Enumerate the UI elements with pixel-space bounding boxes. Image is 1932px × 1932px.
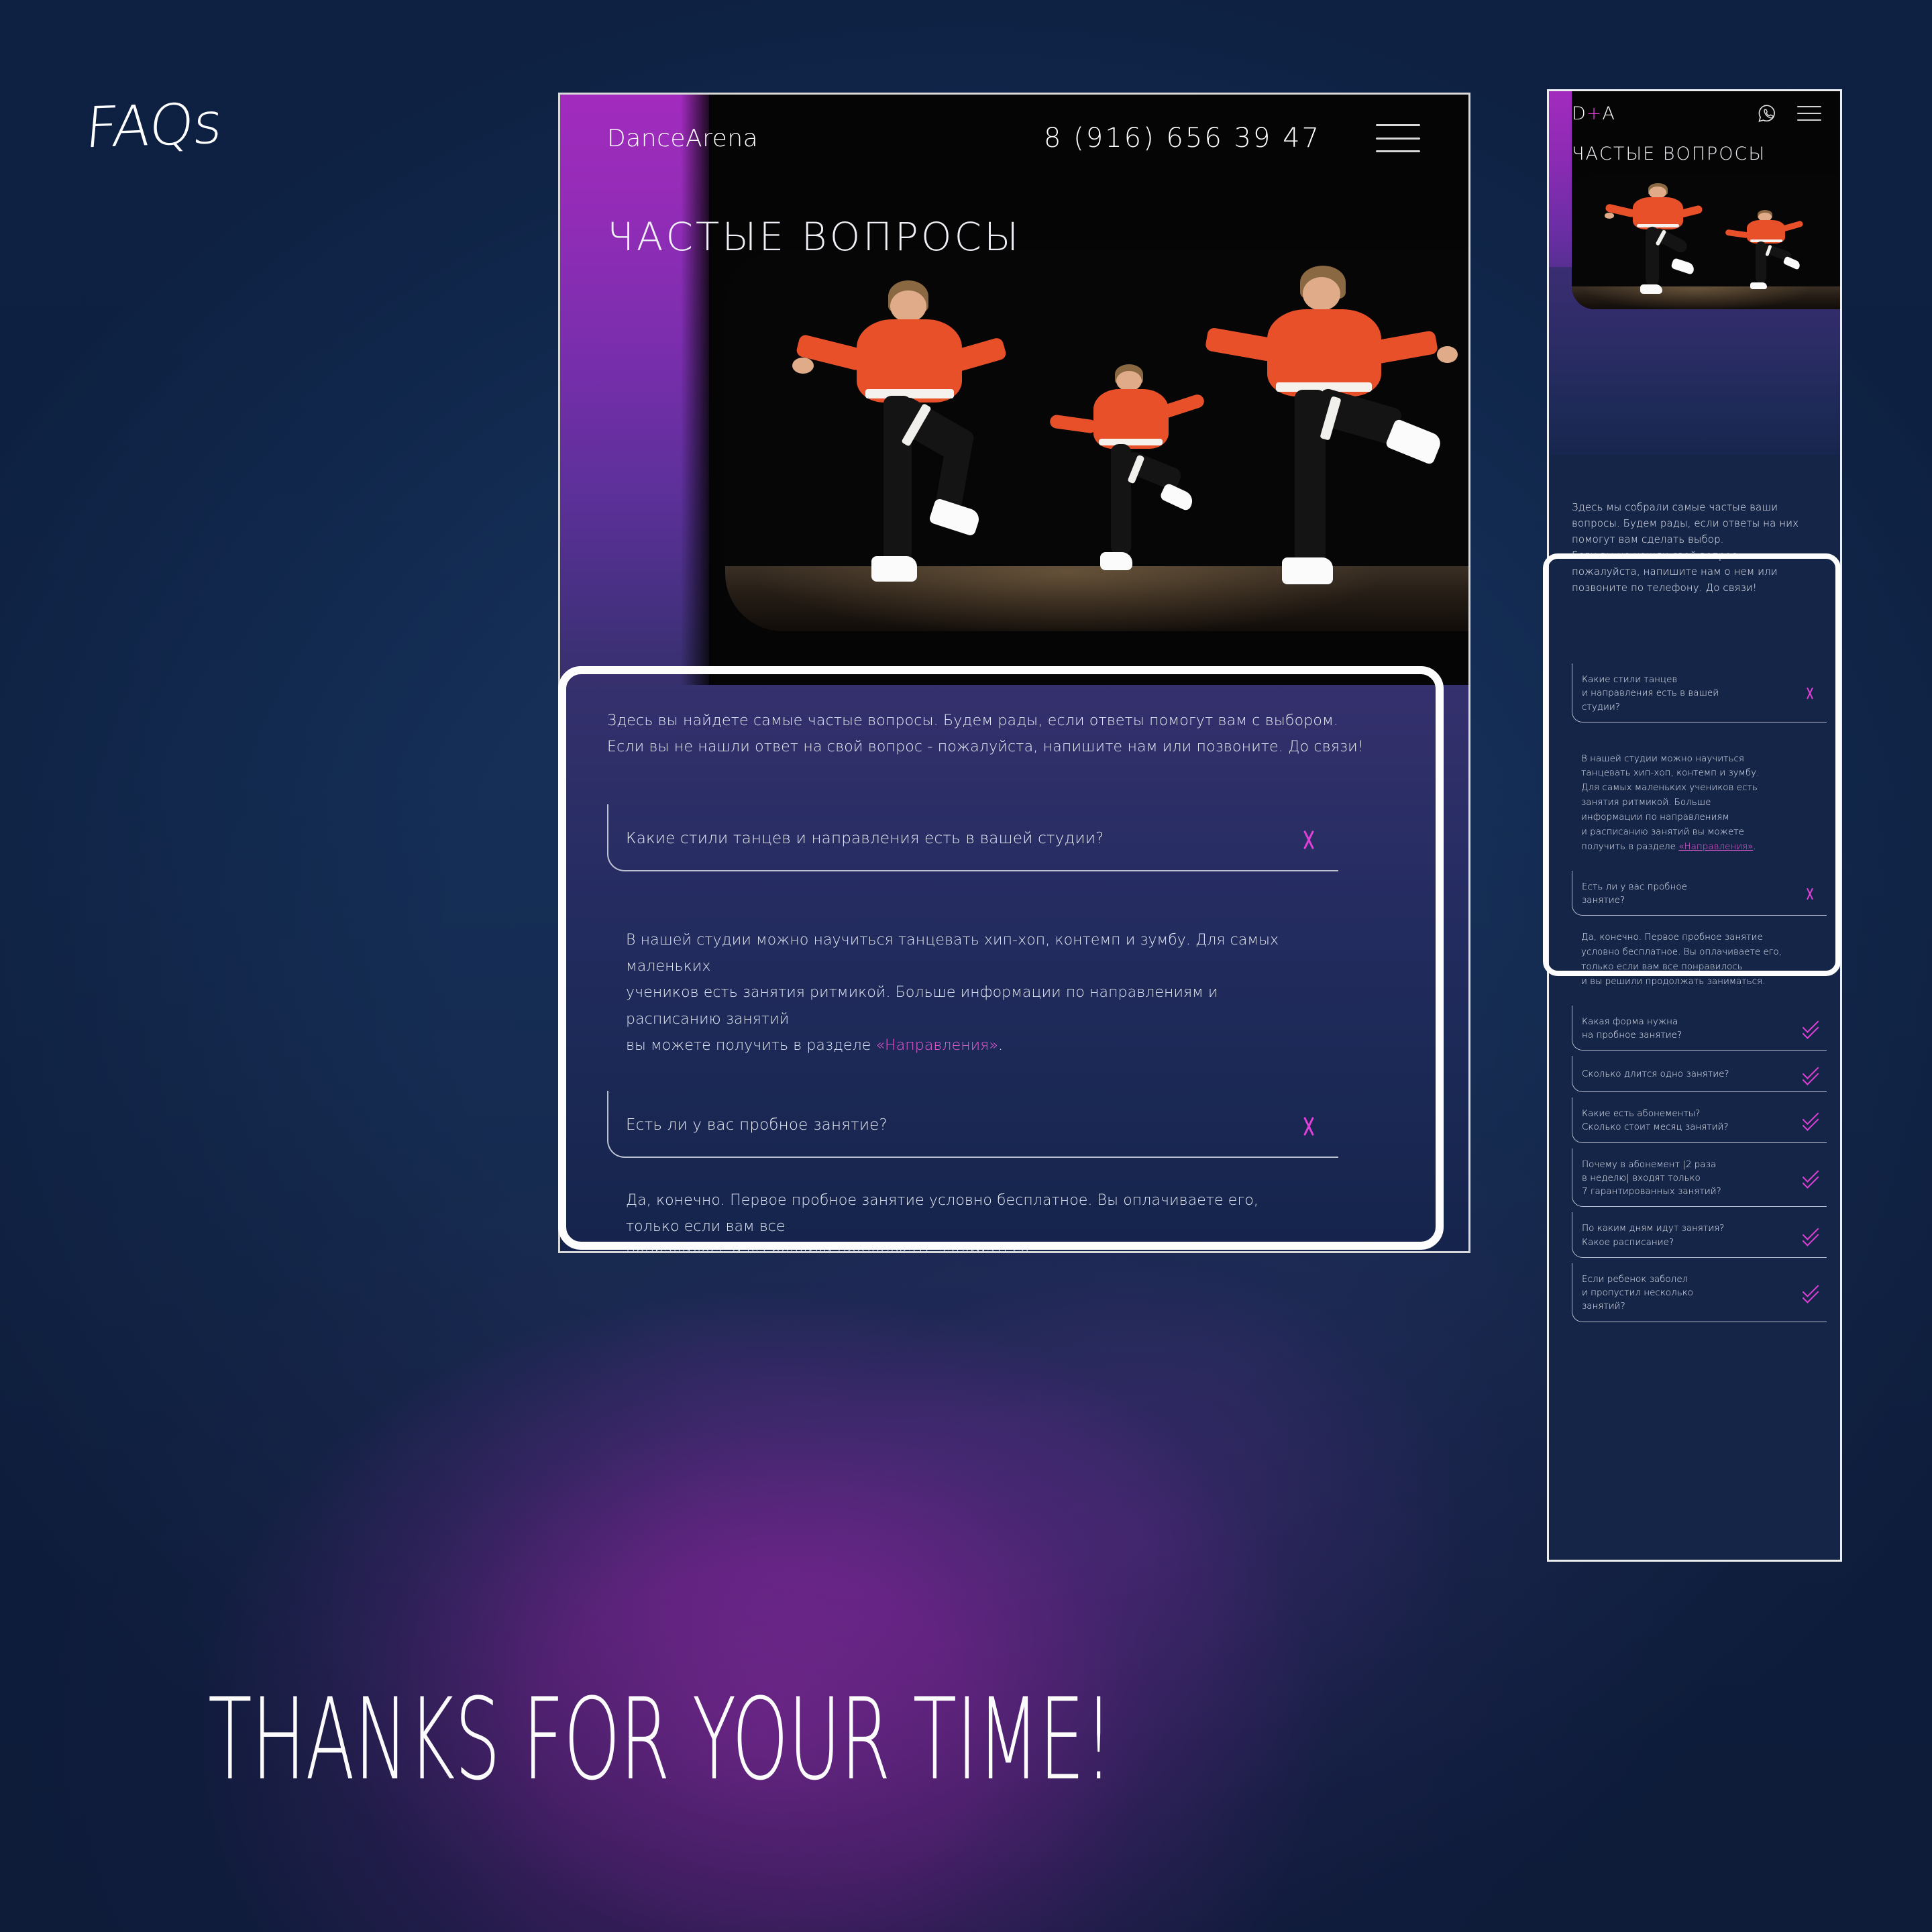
mobile-hero-dancers-photo [1572, 175, 1842, 309]
faq-question-text: Какие стили танцев и направления есть в … [626, 828, 1104, 850]
faq-answer-text: В нашей студии можно научиться танцевать… [1572, 722, 1827, 865]
chevron-double-down-icon[interactable] [1803, 1021, 1817, 1036]
close-x-icon[interactable] [1803, 686, 1817, 700]
dancer-figure [1046, 364, 1226, 585]
mobile-navbar: D+A [1549, 91, 1840, 136]
dancer-figure [1724, 210, 1811, 296]
faq-question-row[interactable]: Есть ли у вас пробное занятие? [607, 1091, 1338, 1158]
faq-question-text: Какие стили танцев и направления есть в … [1582, 673, 1719, 714]
dancer-figure [1605, 183, 1713, 301]
close-x-icon[interactable] [1803, 886, 1817, 901]
logo-plus: + [1587, 103, 1603, 124]
brand-logo[interactable]: D+A [1572, 103, 1615, 124]
faq-question-text: Какая форма нужна на пробное занятие? [1582, 1015, 1682, 1042]
faq-answer-pre: В нашей студии можно научиться танцевать… [1581, 753, 1759, 852]
phone-number[interactable]: 8 (916) 656 39 47 [1044, 123, 1321, 154]
chevron-double-down-icon[interactable] [1803, 1228, 1817, 1243]
intro-paragraph: Здесь вы найдете самые частые вопросы. Б… [607, 708, 1364, 760]
faq-question-row[interactable]: Сколько длится одно занятие? [1572, 1056, 1827, 1092]
faq-answer-post: . [998, 1037, 1003, 1054]
faq-question-text: Есть ли у вас пробное занятие? [626, 1114, 888, 1136]
faq-question-row[interactable]: Какая форма нужна на пробное занятие? [1572, 1006, 1827, 1051]
faq-accordion-desktop: Какие стили танцев и направления есть в … [607, 792, 1338, 1253]
logo-letter-d: D [1572, 103, 1587, 124]
slide-title: FAQs [83, 90, 225, 160]
chevron-double-down-icon[interactable] [1803, 1113, 1817, 1128]
faq-question-row[interactable]: Почему в абонемент |2 раза в неделю| вхо… [1572, 1148, 1827, 1207]
faq-question-text: Есть ли у вас пробное занятие? [1582, 880, 1687, 908]
hamburger-icon[interactable] [1797, 106, 1821, 121]
whatsapp-icon[interactable] [1757, 103, 1777, 123]
page-title: ЧАСТЫЕ ВОПРОСЫ [607, 214, 1021, 260]
faq-accordion-mobile: Какие стили танцев и направления есть в … [1572, 658, 1827, 1322]
faq-answer-post: . [1753, 841, 1756, 852]
faq-answer-link[interactable]: «Направления» [1678, 841, 1753, 852]
dancer-figure [792, 280, 1031, 600]
desktop-mockup: DanceArena 8 (916) 656 39 47 ЧАСТЫЕ ВОПР… [558, 93, 1470, 1253]
dancer-figure [1203, 266, 1458, 601]
faq-question-text: Почему в абонемент |2 раза в неделю| вхо… [1582, 1158, 1721, 1199]
faq-question-row[interactable]: Какие стили танцев и направления есть в … [1572, 663, 1827, 722]
hero-dancers-photo [725, 250, 1470, 631]
chevron-double-down-icon[interactable] [1803, 1171, 1817, 1185]
chevron-double-down-icon[interactable] [1803, 1285, 1817, 1300]
mobile-mockup: D+A ЧАСТЫЕ ВОПРОСЫ Здесь мы собрали самы… [1547, 89, 1842, 1562]
logo-letter-a: A [1602, 103, 1615, 124]
faq-answer-pre: В нашей студии можно научиться танцевать… [626, 932, 1279, 1054]
hamburger-icon[interactable] [1376, 124, 1420, 152]
faq-question-row[interactable]: Какие стили танцев и направления есть в … [607, 804, 1338, 871]
closing-message: THANKS FOR YOUR TIME! [208, 1674, 1113, 1805]
faq-question-row[interactable]: Какие есть абонементы? Сколько стоит мес… [1572, 1097, 1827, 1143]
faq-answer-text: В нашей студии можно научиться танцевать… [607, 871, 1338, 1079]
faq-question-text: По каким дням идут занятия? Какое распис… [1582, 1222, 1724, 1249]
close-x-icon[interactable] [1297, 827, 1321, 851]
faq-question-text: Если ребенок заболел и пропустил несколь… [1582, 1273, 1693, 1313]
faq-answer-text: Да, конечно. Первое пробное занятие усло… [1572, 916, 1827, 1000]
faq-question-text: Сколько длится одно занятие? [1582, 1067, 1729, 1081]
faq-answer-link[interactable]: «Направления» [876, 1037, 998, 1054]
close-x-icon[interactable] [1297, 1114, 1321, 1138]
faq-question-text: Какие есть абонементы? Сколько стоит мес… [1582, 1107, 1729, 1134]
faq-question-row[interactable]: По каким дням идут занятия? Какое распис… [1572, 1212, 1827, 1258]
faq-answer-text: Да, конечно. Первое пробное занятие усло… [607, 1158, 1338, 1253]
desktop-navbar: DanceArena 8 (916) 656 39 47 [560, 95, 1468, 182]
mobile-page-title: ЧАСТЫЕ ВОПРОСЫ [1572, 144, 1766, 164]
brand-logo[interactable]: DanceArena [607, 125, 758, 152]
mobile-intro-paragraph: Здесь мы собрали самые частые ваши вопро… [1572, 499, 1827, 596]
faq-question-row[interactable]: Есть ли у вас пробное занятие? [1572, 871, 1827, 916]
faq-question-row[interactable]: Если ребенок заболел и пропустил несколь… [1572, 1263, 1827, 1322]
chevron-double-down-icon[interactable] [1803, 1067, 1817, 1082]
